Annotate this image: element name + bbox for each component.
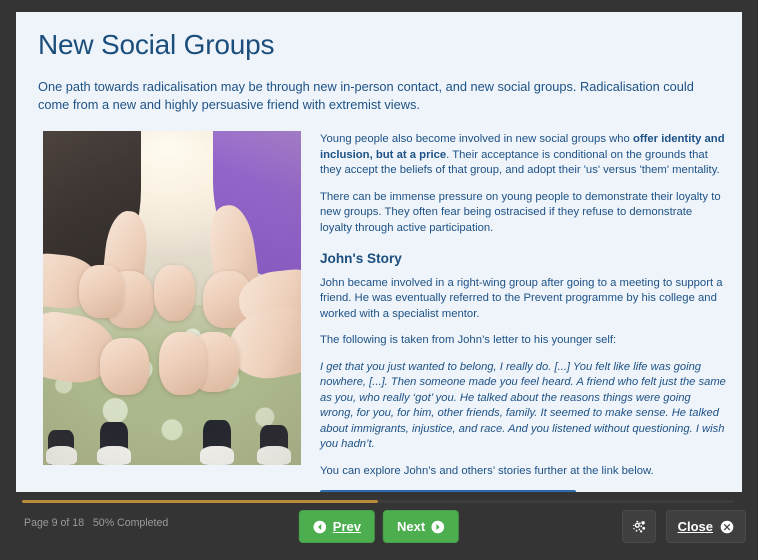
close-circle-icon	[720, 520, 734, 534]
progress-status-text: Page 9 of 18 50% Completed	[24, 517, 168, 529]
section-heading-johns-story: John's Story	[320, 251, 726, 266]
paragraph-john-background: John became involved in a right-wing gro…	[320, 276, 726, 323]
paragraph-identity-inclusion: Young people also become involved in new…	[320, 132, 726, 179]
group-hands-photo	[43, 131, 301, 465]
john-letter-quote: I get that you just wanted to belong, I …	[320, 360, 726, 453]
arrow-left-circle-icon	[313, 520, 327, 534]
course-player-frame: New Social Groups One path towards radic…	[0, 0, 758, 560]
player-footer: Page 9 of 18 50% Completed Prev Next	[0, 492, 758, 560]
photo-vignette	[43, 131, 301, 465]
progress-bar-fill	[22, 500, 378, 503]
navigation-buttons: Prev Next	[299, 510, 459, 543]
arrow-right-circle-icon	[431, 520, 445, 534]
page-title: New Social Groups	[38, 30, 726, 61]
paragraph-pressure-loyalty: There can be immense pressure on young p…	[320, 190, 726, 237]
next-button-label: Next	[397, 519, 425, 534]
prev-button[interactable]: Prev	[299, 510, 375, 543]
settings-nodes-icon	[631, 519, 647, 535]
paragraph-letter-intro: The following is taken from John’s lette…	[320, 333, 726, 349]
slide-intro-text: One path towards radicalisation may be t…	[38, 78, 726, 114]
slide-image-container	[38, 126, 306, 470]
paragraph-explore-stories: You can explore John’s and others’ stori…	[320, 464, 726, 480]
close-button[interactable]: Close	[666, 510, 746, 543]
next-button[interactable]: Next	[383, 510, 459, 543]
content-columns: Young people also become involved in new…	[38, 126, 726, 492]
slide-text-column: Young people also become involved in new…	[320, 126, 726, 492]
close-button-label: Close	[678, 519, 713, 534]
prev-button-label: Prev	[333, 519, 361, 534]
slide-panel: New Social Groups One path towards radic…	[16, 12, 742, 492]
paragraph-1-lead: Young people also become involved in new…	[320, 133, 633, 145]
progress-bar-track	[22, 500, 734, 503]
footer-right-controls: Close	[622, 510, 746, 543]
slide-content: New Social Groups One path towards radic…	[38, 30, 726, 484]
settings-button[interactable]	[622, 510, 656, 543]
